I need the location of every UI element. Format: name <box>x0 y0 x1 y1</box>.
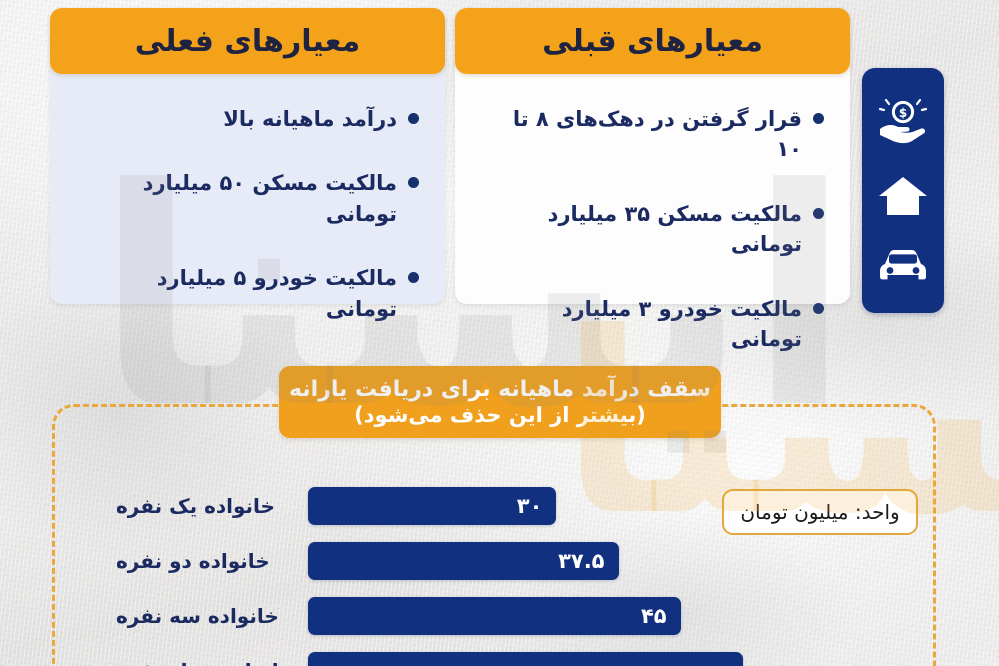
bullet-dot-icon <box>813 113 824 124</box>
bullet-dot-icon <box>408 113 419 124</box>
bar-value-label: ۳۰ <box>517 494 543 518</box>
watermark-text-2: ایسنا <box>560 300 999 550</box>
svg-text:$: $ <box>899 106 907 120</box>
bar-value-label: ۴۵ <box>641 604 667 628</box>
bar-category-label: خانواده دو نفره <box>116 549 306 573</box>
criteria-card-previous-header: معیارهای قبلی <box>455 8 850 74</box>
bar-row: خانواده سه نفره۴۵ <box>0 597 999 635</box>
icon-rail: $ <box>862 68 944 313</box>
hand-holding-coin-icon: $ <box>877 98 929 144</box>
bar-track: ۴۵ <box>308 597 681 635</box>
bar-category-label: خانواده سه نفره <box>116 604 306 628</box>
bar-track <box>308 652 743 666</box>
bar-row: خانواده چهار نفره <box>0 652 999 666</box>
infographic-content: ایسنا ایسنا معیارهای فعلی درآمد ماهیانه … <box>0 0 999 666</box>
bar-track: ۳۰ <box>308 487 556 525</box>
criteria-card-current-header: معیارهای فعلی <box>50 8 445 74</box>
bar-fill: ۴۵ <box>308 597 681 635</box>
bar-category-label: خانواده چهار نفره <box>116 659 306 666</box>
criteria-card-previous-title: معیارهای قبلی <box>542 24 763 59</box>
bar-category-label: خانواده یک نفره <box>116 494 306 518</box>
bar-fill: ۳۰ <box>308 487 556 525</box>
criteria-card-current-title: معیارهای فعلی <box>135 24 360 59</box>
bar-fill <box>308 652 743 666</box>
house-icon <box>878 175 928 217</box>
